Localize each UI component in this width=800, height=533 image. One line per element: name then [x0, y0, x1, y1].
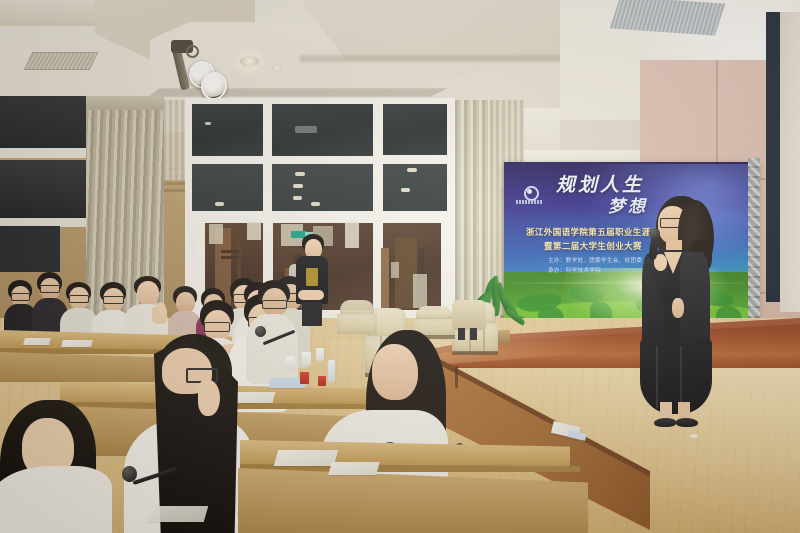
window-frame-left: [0, 148, 90, 158]
paper-sheet: [274, 450, 339, 466]
banner-co-organizer-line: 承办：科学技术学院: [548, 266, 601, 274]
ceiling-shadow-1: [148, 88, 448, 97]
window-dark-left-low: [0, 226, 60, 272]
floor-highlight: [690, 434, 698, 438]
desk-microphone-head: [255, 326, 266, 337]
downlight-icon: [272, 64, 282, 71]
spotlight-bolt: [186, 45, 199, 58]
curtain-header: [86, 96, 164, 110]
wall-right-edge: [780, 12, 800, 312]
paper-sheet: [328, 462, 380, 475]
conference-hall-photo: 规划人生 梦想 浙江外国语学院第五届职业生涯规划大赛 暨第二届大学生创业大赛 主…: [0, 0, 800, 533]
stage-seam: [455, 365, 458, 388]
audience-person-foreground: [0, 400, 120, 533]
shoe: [654, 418, 676, 427]
name-card-red: [300, 372, 309, 384]
downlight-icon: [240, 56, 259, 67]
microphone-head-icon: [649, 228, 660, 239]
university-logo-icon: [516, 186, 542, 208]
paper-cup: [286, 356, 295, 370]
air-vent-icon: [24, 52, 99, 70]
shoe: [676, 418, 698, 427]
stage-attendee: [452, 300, 486, 342]
desk-microphone-head: [122, 466, 137, 482]
standing-attendee: [292, 234, 332, 326]
audience-person-foreground: [120, 334, 252, 533]
banner-organizer-line: 主办：教学处、团委学生会、校团委: [548, 256, 642, 264]
paper-cup: [302, 352, 311, 366]
speaker-presenter: [636, 196, 714, 428]
window-dark-left-mid: [0, 160, 86, 220]
window-dark-left-top: [0, 96, 92, 154]
paper-sheet: [148, 506, 209, 522]
banquet-chair: [340, 300, 374, 334]
